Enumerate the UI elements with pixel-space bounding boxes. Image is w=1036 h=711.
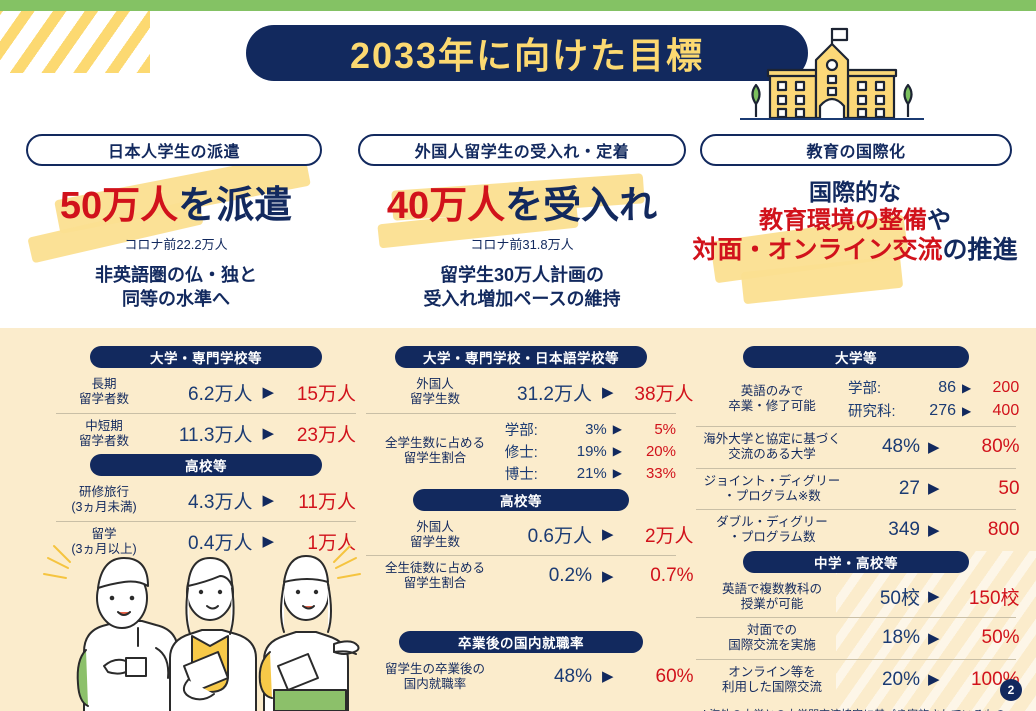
headline-emphasis: 教育環境の整備 [759,207,927,234]
section-band-label: 高校等 [500,490,542,510]
headline-tail: な [878,179,901,205]
row-label: 外国人 留学生数 [366,377,504,408]
arrow-right-icon: ▶ [928,523,940,538]
row-values: 48% ▶ 60% [504,666,694,688]
headline-suffix: を受入れ [505,185,657,227]
arrow-right-icon: ▶ [962,381,971,395]
value-current: 276 [912,402,956,420]
value-current: 19% [563,443,607,460]
row-label: 全学生数に占める 留学生割合 [366,436,504,467]
row-label: 研修旅行 (3ヵ月未満) [56,485,152,516]
row-label: 外国人 留学生数 [366,520,504,551]
data-table-acceptance: 大学・専門学校・日本語学校等 外国人 留学生数 31.2万人 ▶ 38万人 全学… [366,346,676,697]
row-values: 0.2% ▶ 0.7% [504,565,694,587]
row-values: 18% ▶ 50% [848,627,1020,649]
page-number-text: 2 [1008,683,1015,697]
arrow-right-icon: ▶ [613,422,622,436]
headline-note-line: 同等の水準へ [26,287,326,311]
section-band-label: 大学等 [835,347,877,367]
table-row: 長期 留学者数 6.2万人 ▶ 15万人 [56,372,356,414]
headline-emphasis: 対面・オンライン交流 [692,236,942,264]
row-label: ジョイント・ディグリー ・プログラム※数 [696,474,848,505]
arrow-right-icon: ▶ [928,672,940,687]
headline-suffix: を派遣 [178,185,292,227]
row-label: オンライン等を 利用した国際交流 [696,665,848,696]
headline-dispatch: 50万人を派遣 コロナ前22.2万人 非英語圏の仏・独と 同等の水準へ [26,186,326,312]
value-current: 21% [563,465,607,482]
row-values-multi: 学部: 86 ▶ 200 研究科: 276 ▶ 400 [848,377,1019,421]
headline-note-line: 留学生30万人計画の [358,263,686,287]
value-current: 86 [912,379,956,397]
section-band: 卒業後の国内就職率 [399,631,643,653]
table-row: 外国人 留学生数 31.2万人 ▶ 38万人 [366,372,676,414]
table-row: 中短期 留学者数 11.3万人 ▶ 23万人 [56,414,356,455]
section-band: 大学等 [743,346,969,368]
table-spacer [366,597,676,631]
column-header-dispatch[interactable]: 日本人学生の派遣 [26,134,322,166]
row-values: 6.2万人 ▶ 15万人 [152,379,356,406]
section-band: 高校等 [413,489,629,511]
row-values: 31.2万人 ▶ 38万人 [504,379,694,406]
value-target: 33% [628,465,676,482]
headline-tail: や [927,207,951,234]
table-row: 英語で複数教科の 授業が可能 50校 ▶ 150校 [696,577,1016,619]
value-target: 50 [948,478,1020,500]
headline-figure: 50万人 [60,185,178,227]
headline-line-3: 対面・オンライン交流の推進 [690,235,1020,266]
slide-root: 2033年に向けた目標 [0,0,1036,711]
table-row: 海外大学と協定に基づく 交流のある大学 48% ▶ 80% [696,426,1016,469]
row-label: 英語のみで 卒業・修了可能 [696,384,848,415]
subrow-label: 修士: [505,441,557,462]
section-band: 高校等 [90,454,322,476]
value-target: 80% [948,436,1020,458]
value-current: 349 [848,519,920,541]
row-values: 4.3万人 ▶ 11万人 [152,487,356,514]
arrow-right-icon: ▶ [602,385,614,400]
row-label: 海外大学と協定に基づく 交流のある大学 [696,432,848,463]
subrow-masters: 修士: 19% ▶ 20% [504,441,676,462]
row-label: 英語で複数教科の 授業が可能 [696,582,848,613]
value-target: 23万人 [284,420,356,447]
row-values: 20% ▶ 100% [848,669,1020,691]
value-target: 60% [624,666,694,688]
headline-line-2: 教育環境の整備や [690,206,1020,235]
value-current: 0.2% [504,565,592,587]
arrow-right-icon: ▶ [928,589,940,604]
row-label: 留学生の卒業後の 国内就職率 [366,662,504,693]
arrow-right-icon: ▶ [928,631,940,646]
table-row: 外国人 留学生数 0.6万人 ▶ 2万人 [366,515,676,557]
subrow-label: 学部: [848,377,906,398]
arrow-right-icon: ▶ [262,493,274,508]
table-row: 全生徒数に占める 留学生割合 0.2% ▶ 0.7% [366,556,676,597]
students-illustration-icon [42,540,362,711]
section-band-label: 卒業後の国内就職率 [458,632,584,652]
column-header-label: 外国人留学生の受入れ・定着 [415,138,630,162]
row-values: 27 ▶ 50 [848,478,1020,500]
section-band-label: 高校等 [185,455,227,475]
value-current: 0.6万人 [504,521,592,548]
row-label: 中短期 留学者数 [56,419,152,450]
value-target: 50% [948,627,1020,649]
value-target: 15万人 [284,379,356,406]
page-title: 2033年に向けた目標 [246,25,808,81]
headline-note: 留学生30万人計画の 受入れ増加ペースの維持 [358,263,686,312]
headline-acceptance: 40万人を受入れ コロナ前31.8万人 留学生30万人計画の 受入れ増加ペースの… [358,186,686,312]
arrow-right-icon: ▶ [602,527,614,542]
arrow-right-icon: ▶ [262,426,274,441]
value-current: 48% [504,666,592,688]
column-header-acceptance[interactable]: 外国人留学生の受入れ・定着 [358,134,686,166]
column-header-label: 教育の国際化 [806,138,905,162]
headline-note-line: 受入れ増加ペースの維持 [358,287,686,311]
footnote: ※海外の大学との大学間交流協定に基づき実施されているもの [696,706,1016,711]
section-band: 大学・専門学校等 [90,346,322,368]
subrow-doctoral: 博士: 21% ▶ 33% [504,463,676,484]
table-row: 留学生の卒業後の 国内就職率 48% ▶ 60% [366,657,676,698]
row-values: 48% ▶ 80% [848,436,1020,458]
value-target: 11万人 [284,487,356,514]
row-values: 11.3万人 ▶ 23万人 [152,420,356,447]
arrow-right-icon: ▶ [928,481,940,496]
row-values: 0.6万人 ▶ 2万人 [504,521,694,548]
row-values: 50校 ▶ 150校 [848,583,1020,610]
row-values: 349 ▶ 800 [848,519,1020,541]
arrow-right-icon: ▶ [602,669,614,684]
row-label: 長期 留学者数 [56,377,152,408]
value-target: 400 [977,402,1019,420]
headline-note-line: 非英語圏の仏・独と [26,263,326,287]
headline-subtext: コロナ前31.8万人 [358,234,686,253]
data-table-internationalization: 大学等 英語のみで 卒業・修了可能 学部: 86 ▶ 200 研究科: 276 … [696,346,1016,711]
value-current: 27 [848,478,920,500]
table-row: 対面での 国際交流を実施 18% ▶ 50% [696,618,1016,660]
value-target: 5% [628,421,676,438]
value-target: 38万人 [624,379,694,406]
value-target: 0.7% [624,565,694,587]
subrow-graduate-school: 研究科: 276 ▶ 400 [848,400,1019,421]
section-band: 中学・高校等 [743,551,969,573]
value-current: 20% [848,669,920,691]
page-title-text: 2033年に向けた目標 [350,27,704,79]
value-target: 2万人 [624,521,694,548]
value-current: 18% [848,627,920,649]
value-current: 3% [563,421,607,438]
section-band-label: 大学・専門学校・日本語学校等 [423,347,619,367]
headline-tail: の推進 [943,236,1018,264]
subrow-label: 研究科: [848,400,906,421]
row-values-multi: 学部: 3% ▶ 5% 修士: 19% ▶ 20% 博士: 21% ▶ 33% [504,419,676,484]
value-target: 150校 [948,583,1020,610]
table-row: 研修旅行 (3ヵ月未満) 4.3万人 ▶ 11万人 [56,480,356,522]
value-current: 6.2万人 [166,379,252,406]
value-current: 4.3万人 [166,487,252,514]
subrow-undergraduate: 学部: 86 ▶ 200 [848,377,1019,398]
headline-note: 非英語圏の仏・独と 同等の水準へ [26,263,326,312]
value-current: 50校 [848,583,920,610]
subrow-undergraduate: 学部: 3% ▶ 5% [504,419,676,440]
value-current: 31.2万人 [504,379,592,406]
value-target: 200 [977,379,1019,397]
headline-main-line: 40万人を受入れ [358,186,686,227]
table-row: ダブル・ディグリー ・プログラム数 349 ▶ 800 [696,510,1016,551]
headline-figure: 40万人 [387,185,505,227]
value-current: 11.3万人 [166,420,252,447]
row-label: ダブル・ディグリー ・プログラム数 [696,515,848,546]
arrow-right-icon: ▶ [962,404,971,418]
headline-subtext: コロナ前22.2万人 [26,234,326,253]
arrow-right-icon: ▶ [602,569,614,584]
value-current: 48% [848,436,920,458]
school-building-icon [740,24,924,140]
arrow-right-icon: ▶ [928,440,940,455]
page-number-badge: 2 [1000,679,1022,701]
table-row-multi: 全学生数に占める 留学生割合 学部: 3% ▶ 5% 修士: 19% ▶ 20%… [366,414,676,489]
headline-internationalization: 国際的な 教育環境の整備や 対面・オンライン交流の推進 [690,178,1020,266]
row-label: 全生徒数に占める 留学生割合 [366,561,504,592]
arrow-right-icon: ▶ [262,385,274,400]
table-row: オンライン等を 利用した国際交流 20% ▶ 100% [696,660,1016,701]
data-table-dispatch: 大学・専門学校等 長期 留学者数 6.2万人 ▶ 15万人 中短期 留学者数 1… [56,346,356,562]
table-row: ジョイント・ディグリー ・プログラム※数 27 ▶ 50 [696,469,1016,511]
value-target: 800 [948,519,1020,541]
top-green-bar [0,0,1036,11]
section-band: 大学・専門学校・日本語学校等 [395,346,647,368]
arrow-right-icon: ▶ [613,466,622,480]
table-row-multi: 英語のみで 卒業・修了可能 学部: 86 ▶ 200 研究科: 276 ▶ 40… [696,372,1016,426]
top-left-stripes-decoration [0,11,150,73]
headline-emphasis: 国際的 [809,179,878,205]
headline-line-1: 国際的な [690,178,1020,206]
value-target: 20% [628,443,676,460]
section-band-label: 大学・専門学校等 [150,347,262,367]
section-band-label: 中学・高校等 [814,552,898,572]
headline-main-line: 50万人を派遣 [26,186,326,227]
arrow-right-icon: ▶ [613,444,622,458]
subrow-label: 博士: [505,463,557,484]
subrow-label: 学部: [505,419,557,440]
row-label: 対面での 国際交流を実施 [696,623,848,654]
column-header-label: 日本人学生の派遣 [108,138,240,162]
